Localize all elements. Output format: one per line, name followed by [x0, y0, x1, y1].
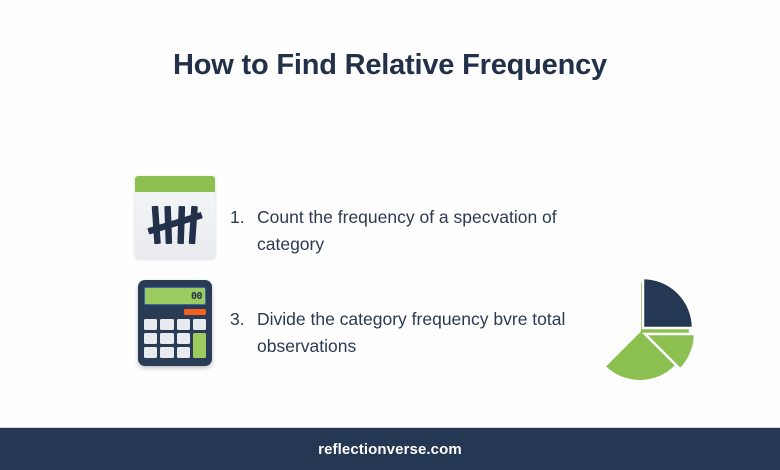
calculator-keypad	[144, 319, 206, 358]
page-title: How to Find Relative Frequency	[0, 48, 780, 83]
slide-canvas: How to Find Relative Frequency	[0, 0, 780, 470]
calculator-key	[160, 319, 173, 330]
calculator-key	[144, 319, 157, 330]
tally-marks-icon	[135, 176, 215, 258]
step-2-number: 3.	[230, 306, 247, 359]
calculator-side-column	[193, 319, 206, 358]
tally-header-bar	[135, 176, 215, 192]
calculator-key	[144, 347, 157, 358]
list-item: 1. Count the frequency of a specvation o…	[120, 174, 680, 258]
calculator-key	[177, 333, 190, 344]
calculator-key	[177, 347, 190, 358]
calculator-icon: 00	[138, 280, 212, 366]
step-1-label: Count the frequency of a specvation of c…	[257, 204, 607, 257]
calculator-key-grid	[144, 319, 190, 358]
footer-bar: reflectionverse.com	[0, 427, 780, 470]
calculator-key	[160, 333, 173, 344]
calculator-equals-key	[193, 333, 206, 358]
step-2-label: Divide the category frequency bvre total…	[257, 306, 607, 359]
calculator-key	[160, 347, 173, 358]
pie-chart-graphic	[588, 277, 698, 385]
pie-chart-icon	[588, 277, 698, 385]
step-1-icon-slot	[120, 174, 230, 258]
step-1-text-block: 1. Count the frequency of a specvation o…	[230, 174, 680, 257]
calculator-display: 00	[144, 287, 206, 305]
tally-marks-glyph	[135, 192, 215, 258]
step-1-number: 1.	[230, 204, 247, 257]
footer-site-name: reflectionverse.com	[318, 441, 462, 458]
calculator-display-value: 00	[191, 291, 202, 302]
calculator-key	[177, 319, 190, 330]
calculator-key	[144, 333, 157, 344]
calculator-accent-button	[184, 309, 206, 315]
step-2-icon-slot: 00	[120, 278, 230, 366]
pie-slice-navy	[643, 278, 693, 328]
calculator-key	[193, 319, 206, 330]
